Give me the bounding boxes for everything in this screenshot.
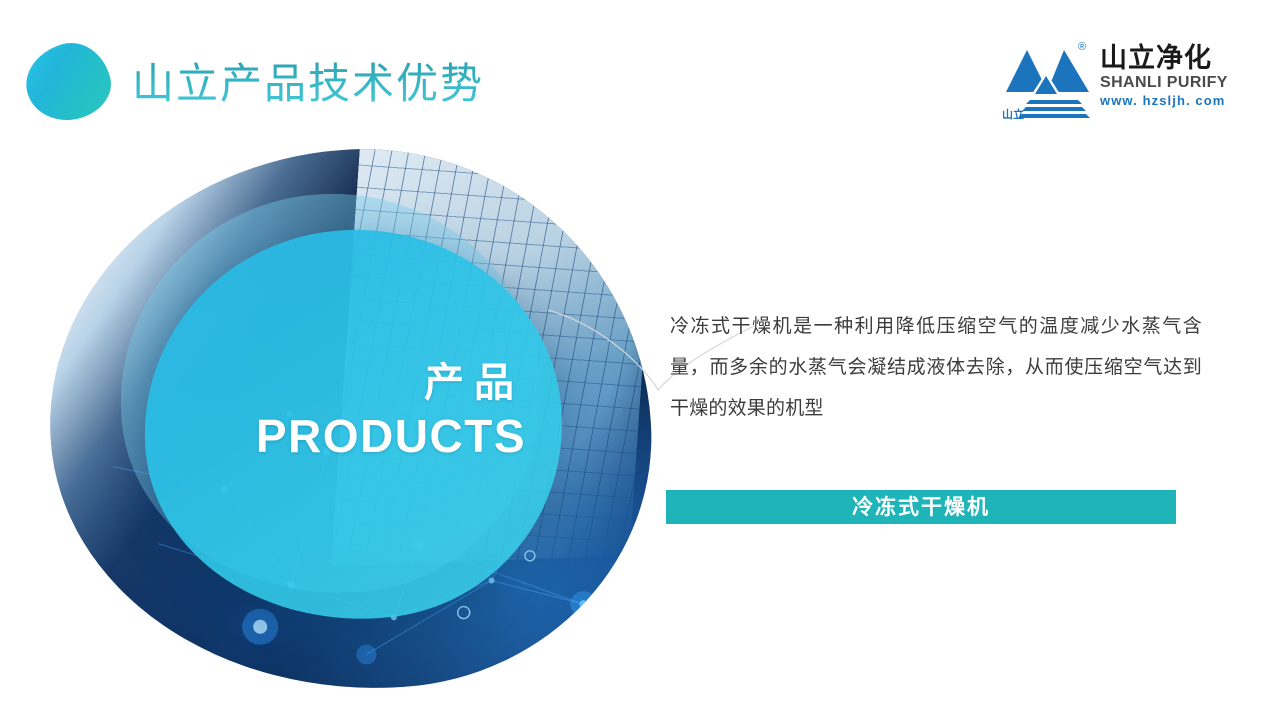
slide-canvas: 山立产品技术优势 ® 山立 山立净化 SHANLI PURIFY www. hz… (0, 0, 1280, 720)
product-name-banner: 冷冻式干燥机 (666, 490, 1176, 524)
hero-label: 产品 PRODUCTS (190, 362, 526, 463)
logo-company-name-en: SHANLI PURIFY (1100, 74, 1220, 92)
product-hero-graphic: 产品 PRODUCTS (50, 150, 650, 690)
registered-trademark-icon: ® (1078, 42, 1086, 53)
hero-label-en: PRODUCTS (190, 411, 526, 463)
hero-label-cn: 产品 (190, 362, 526, 405)
logo-website-url: www. hzsljh. com (1100, 94, 1220, 108)
logo-text-block: 山立净化 SHANLI PURIFY www. hzsljh. com (1100, 44, 1220, 108)
product-description: 冷冻式干燥机是一种利用降低压缩空气的温度减少水蒸气含量，而多余的水蒸气会凝结成液… (670, 306, 1202, 429)
page-title: 山立产品技术优势 (132, 58, 484, 111)
logo-mark-caption: 山立 (1002, 110, 1024, 121)
product-name-banner-label: 冷冻式干燥机 (852, 497, 990, 518)
slide-header: 山立产品技术优势 ® 山立 山立净化 SHANLI PURIFY www. hz… (0, 0, 1280, 140)
logo-company-name-cn: 山立净化 (1100, 44, 1220, 73)
blob-shape-icon (18, 35, 118, 129)
company-logo: ® 山立 山立净化 SHANLI PURIFY www. hzsljh. com (1000, 40, 1218, 124)
